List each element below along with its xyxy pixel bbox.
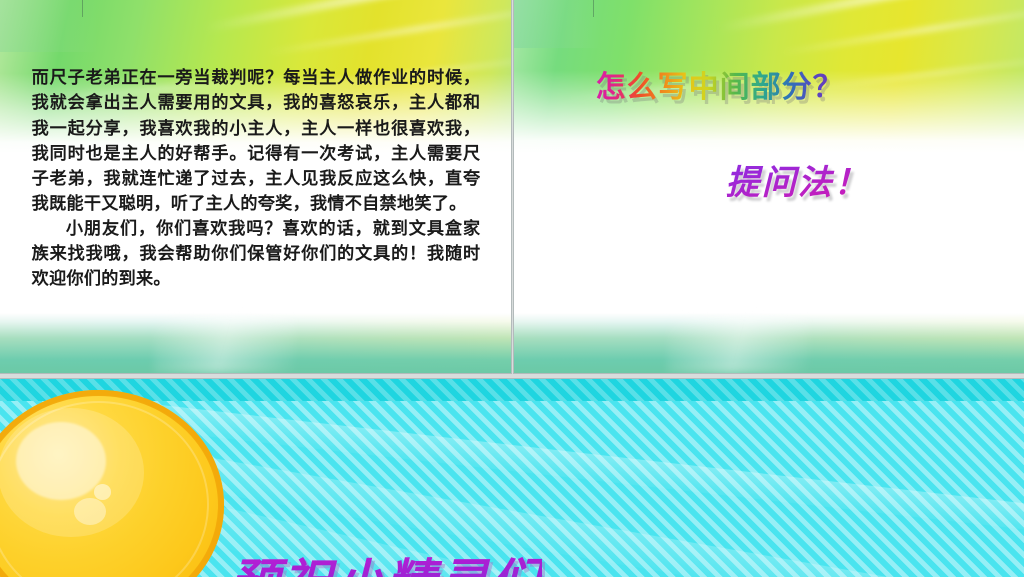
slide1-top-tick-mark: [82, 0, 83, 17]
slide-thumbnail-3[interactable]: 预祝小精灵们: [0, 379, 1024, 577]
decorative-swoosh: [204, 0, 511, 33]
slide1-paragraph-1: 而尺子老弟正在一旁当裁判呢？每当主人做作业的时候，我就会拿出主人需要用的文具，我…: [32, 65, 481, 216]
sun-highlight: [16, 422, 106, 500]
slide3-top-band: [0, 379, 1024, 401]
slide-thumbnail-2[interactable]: 怎么写中间部分？ 提问法！: [514, 0, 1024, 373]
slide2-top-tick-mark: [593, 0, 594, 17]
decorative-sheen: [153, 313, 296, 373]
decorative-sheen: [667, 313, 810, 373]
slide1-footer-gradient: [0, 313, 511, 373]
slide-thumbnail-grid: 而尺子老弟正在一旁当裁判呢？每当主人做作业的时候，我就会拿出主人需要用的文具，我…: [0, 0, 1024, 577]
slide2-rainbow-title: 怎么写中间部分？: [596, 62, 844, 106]
slide1-body-text: 而尺子老弟正在一旁当裁判呢？每当主人做作业的时候，我就会拿出主人需要用的文具，我…: [32, 65, 481, 291]
slide2-top-band: [514, 0, 601, 48]
slide-thumbnail-1[interactable]: 而尺子老弟正在一旁当裁判呢？每当主人做作业的时候，我就会拿出主人需要用的文具，我…: [0, 0, 511, 373]
slide2-purple-subtitle: 提问法！: [726, 155, 870, 204]
slide1-paragraph-2: 小朋友们，你们喜欢我吗？喜欢的话，就到文具盒家族来找我哦，我会帮助你们保管好你们…: [32, 216, 481, 291]
slide2-footer-gradient: [514, 313, 1024, 373]
slide3-title: 预祝小精灵们: [230, 543, 542, 577]
decorative-swoosh: [717, 0, 1024, 33]
